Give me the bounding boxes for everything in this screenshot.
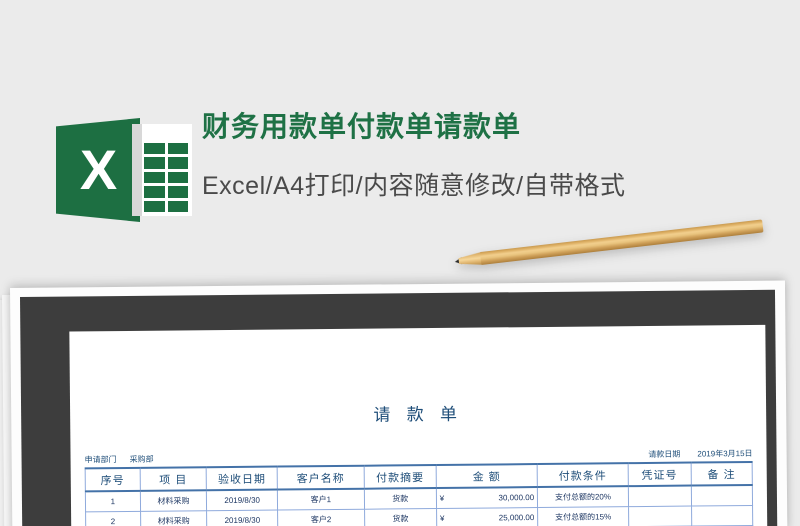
column-header-desc[interactable]: 付款摘要: [364, 465, 436, 489]
department-field: 申请部门 采购部: [85, 454, 154, 466]
preview-canvas: X 财务用款单付款单请款单 Excel/A4打印/内容随意修改/自带格式: [0, 0, 800, 526]
cell-date[interactable]: 2019/8/30: [207, 510, 278, 526]
cell-voucher[interactable]: [628, 506, 691, 526]
department-value[interactable]: 采购部: [130, 454, 154, 465]
banner-text-block: 财务用款单付款单请款单 Excel/A4打印/内容随意修改/自带格式: [202, 110, 792, 202]
column-header-customer[interactable]: 客户名称: [277, 466, 364, 490]
cell-amount[interactable]: ¥ 30,000.00: [436, 487, 538, 508]
currency-symbol: ¥: [440, 494, 445, 503]
cell-condition[interactable]: 支付总额的15%: [538, 507, 629, 526]
request-table: 序号 项 目 验收日期 客户名称 付款摘要 金 额 付款条件 凭证号 备 注: [85, 461, 754, 526]
currency-symbol: ¥: [440, 514, 445, 523]
amount-value: 30,000.00: [498, 493, 534, 502]
column-header-no[interactable]: 序号: [85, 468, 140, 492]
column-header-date[interactable]: 验收日期: [207, 467, 278, 491]
banner: X 财务用款单付款单请款单 Excel/A4打印/内容随意修改/自带格式: [0, 52, 800, 182]
cell-desc[interactable]: 货款: [364, 509, 436, 526]
cell-no[interactable]: 1: [85, 491, 140, 512]
cell-condition[interactable]: 支付总额的20%: [538, 486, 629, 507]
excel-logo-letter: X: [56, 118, 140, 222]
column-header-note[interactable]: 备 注: [691, 462, 753, 486]
cell-item[interactable]: 材料采购: [140, 511, 207, 526]
table-body: 1 材料采购 2019/8/30 客户1 货款 ¥ 30,000.00: [85, 485, 753, 526]
amount-value: 25,000.00: [499, 513, 535, 522]
column-header-amount[interactable]: 金 额: [436, 464, 538, 488]
banner-subtitle: Excel/A4打印/内容随意修改/自带格式: [202, 166, 792, 202]
request-date-label: 请款日期: [648, 449, 680, 460]
cell-amount[interactable]: ¥ 25,000.00: [436, 508, 538, 526]
cell-no[interactable]: 2: [86, 511, 141, 526]
document-title: 请 款 单: [70, 397, 766, 429]
cell-voucher[interactable]: [628, 486, 691, 507]
cell-note[interactable]: [691, 485, 753, 506]
document-frame: 请 款 单 申请部门 采购部 请款日期 2019年3月15日: [20, 290, 777, 526]
cell-date[interactable]: 2019/8/30: [207, 490, 278, 511]
cell-customer[interactable]: 客户2: [278, 509, 365, 526]
pencil-icon: [454, 219, 764, 271]
column-header-condition[interactable]: 付款条件: [537, 463, 628, 487]
pencil-body: [480, 219, 764, 265]
cell-desc[interactable]: 货款: [364, 488, 436, 509]
request-date-value[interactable]: 2019年3月15日: [697, 448, 752, 460]
document-page[interactable]: 请 款 单 申请部门 采购部 请款日期 2019年3月15日: [69, 325, 767, 526]
cell-item[interactable]: 材料采购: [140, 490, 207, 511]
cell-note[interactable]: [691, 505, 753, 526]
excel-logo-sheet-shade: [132, 124, 142, 216]
column-header-item[interactable]: 项 目: [140, 467, 207, 491]
excel-logo-sheet: [132, 124, 192, 216]
banner-title: 财务用款单付款单请款单: [202, 110, 792, 144]
document-stack: 请 款 单 申请部门 采购部 请款日期 2019年3月15日: [0, 286, 784, 526]
excel-logo-icon: X: [56, 114, 192, 226]
excel-logo-grid: [144, 128, 188, 212]
department-label: 申请部门: [85, 454, 117, 465]
request-date-field: 请款日期 2019年3月15日: [648, 448, 752, 460]
cell-customer[interactable]: 客户1: [277, 489, 364, 510]
column-header-voucher[interactable]: 凭证号: [628, 463, 691, 487]
